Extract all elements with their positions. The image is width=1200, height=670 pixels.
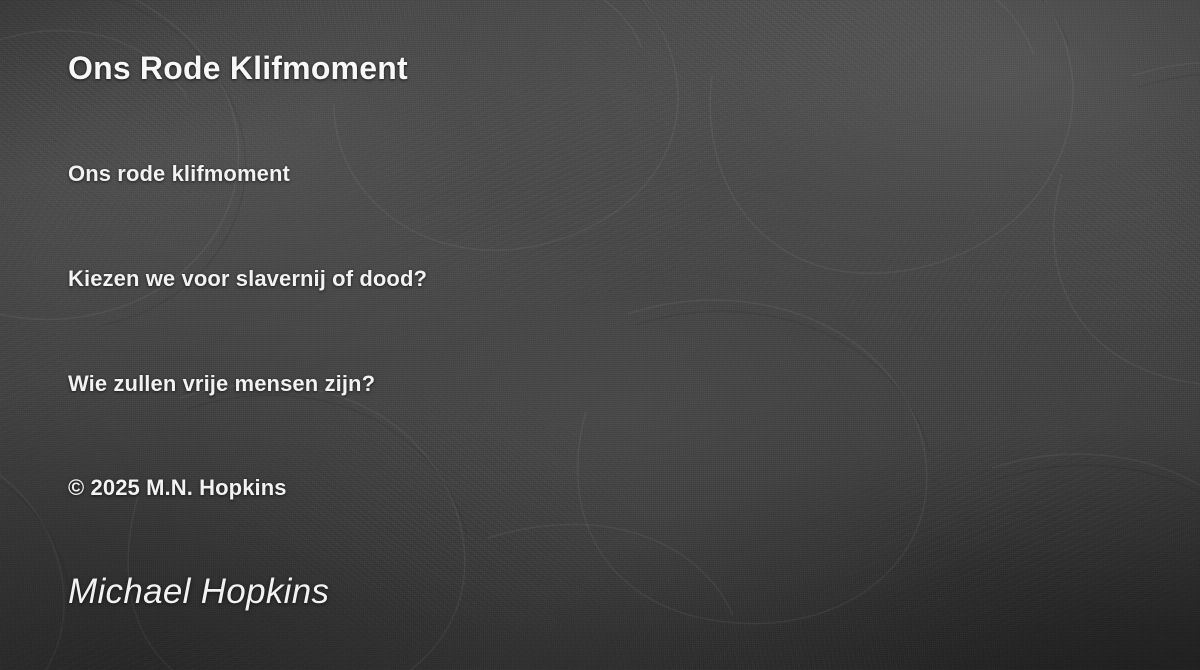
page-title: Ons Rode Klifmoment xyxy=(68,50,408,87)
poem-slide: Ons Rode Klifmoment Ons rode klifmoment … xyxy=(0,0,1200,670)
poem-line-2: Kiezen we voor slavernij of dood? xyxy=(68,266,427,292)
author-signature: Michael Hopkins xyxy=(68,572,329,612)
copyright-notice: © 2025 M.N. Hopkins xyxy=(68,475,287,501)
poem-line-1: Ons rode klifmoment xyxy=(68,161,290,187)
poem-line-3: Wie zullen vrije mensen zijn? xyxy=(68,371,375,397)
slide-content: Ons Rode Klifmoment Ons rode klifmoment … xyxy=(0,0,1200,670)
